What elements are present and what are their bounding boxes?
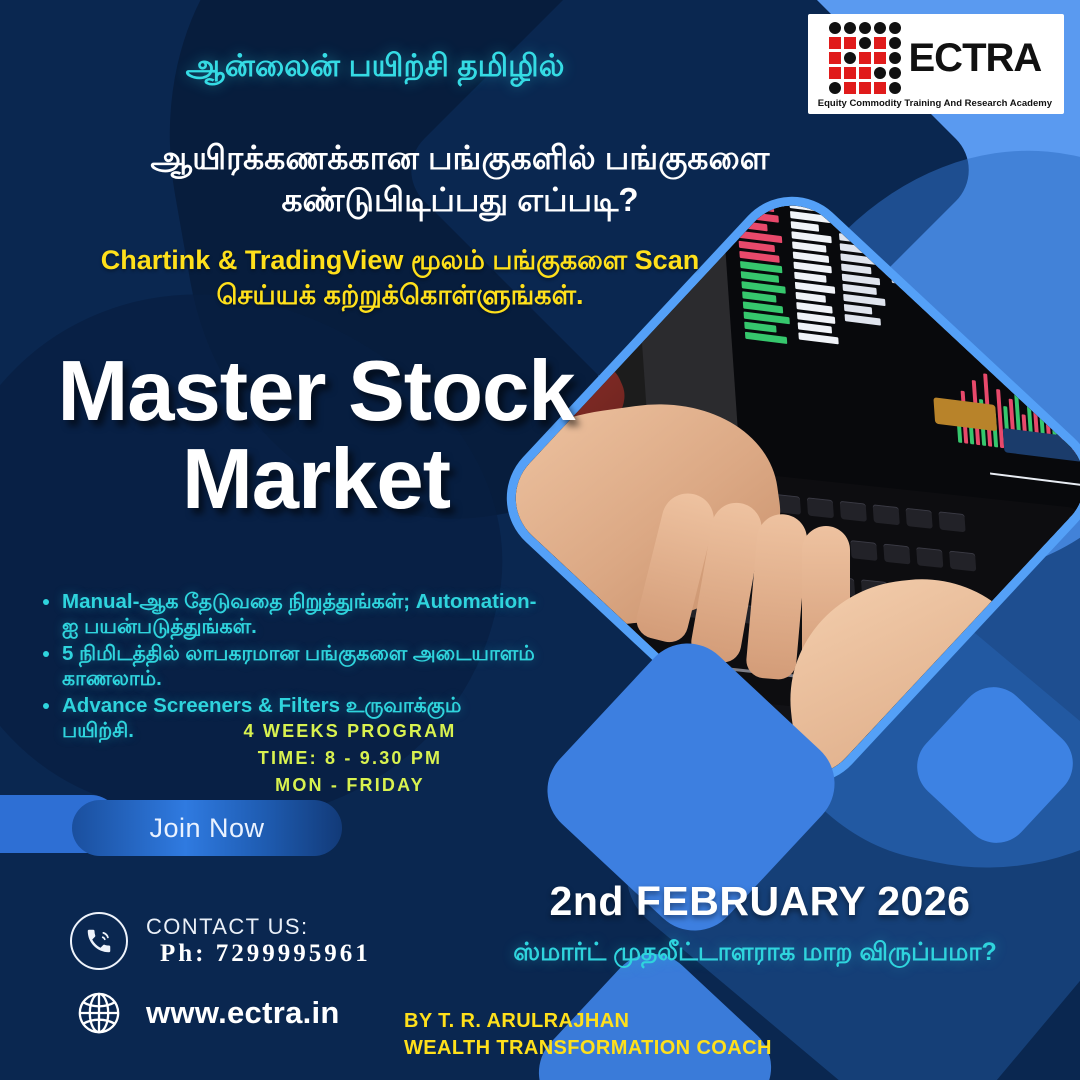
presenter-title: WEALTH TRANSFORMATION COACH bbox=[404, 1035, 772, 1062]
list-item: Manual-ஆக தேடுவதை நிறுத்துங்கள்; Automat… bbox=[62, 590, 538, 639]
page-headline: ஆயிரக்கணக்கான பங்குகளில் பங்குகளை கண்டுப… bbox=[60, 137, 860, 221]
leverage-bar bbox=[1003, 428, 1080, 471]
presenter-name: BY T. R. ARULRAJHAN bbox=[404, 1008, 772, 1035]
subheadline: Chartink & TradingView மூலம் பங்குகளை Sc… bbox=[40, 243, 760, 313]
contact-website-row: www.ectra.in bbox=[70, 984, 371, 1042]
subheadline-line-2: செய்யக் கற்றுக்கொள்ளுங்கள். bbox=[40, 278, 760, 313]
title-line-2: Market bbox=[26, 436, 606, 524]
contact-website[interactable]: www.ectra.in bbox=[146, 995, 340, 1031]
program-duration: 4 WEEKS PROGRAM bbox=[140, 718, 560, 745]
contact-label: CONTACT US: bbox=[146, 914, 371, 940]
globe-icon bbox=[70, 984, 128, 1042]
phone-call-icon bbox=[70, 912, 128, 970]
event-question: ஸ்மார்ட் முதலீட்டாளராக மாற விருப்பமா? bbox=[440, 938, 1070, 970]
contact-phone[interactable]: Ph: 7299995961 bbox=[146, 940, 371, 968]
headline-line-2: கண்டுபிடிப்பது எப்படி? bbox=[60, 179, 860, 221]
logo-tagline: Equity Commodity Training And Research A… bbox=[818, 98, 1052, 109]
program-days: MON - FRIDAY bbox=[140, 772, 560, 799]
page-title: Master Stock Market bbox=[26, 348, 606, 523]
program-details: 4 WEEKS PROGRAM TIME: 8 - 9.30 PM MON - … bbox=[140, 718, 560, 799]
headline-line-1: ஆயிரக்கணக்கான பங்குகளில் பங்குகளை bbox=[60, 137, 860, 179]
list-item: 5 நிமிடத்தில் லாபகரமான பங்குகளை அடையாளம்… bbox=[62, 642, 538, 691]
poster-root: ECTRA Equity Commodity Training And Rese… bbox=[0, 0, 1080, 1080]
join-now-button[interactable]: Join Now bbox=[72, 800, 342, 856]
ectra-logo: ECTRA Equity Commodity Training And Rese… bbox=[808, 14, 1064, 114]
contact-block: CONTACT US: Ph: 7299995961 www.ectra.in bbox=[70, 912, 371, 1042]
logo-dot-grid bbox=[829, 22, 901, 94]
program-time: TIME: 8 - 9.30 PM bbox=[140, 745, 560, 772]
divider-line-1 bbox=[990, 473, 1080, 496]
logo-wordmark: ECTRA bbox=[909, 38, 1042, 78]
title-line-1: Master Stock bbox=[26, 348, 606, 436]
contact-text: CONTACT US: Ph: 7299995961 bbox=[146, 914, 371, 968]
presenter-byline: BY T. R. ARULRAJHAN WEALTH TRANSFORMATIO… bbox=[404, 1008, 772, 1062]
contact-phone-row: CONTACT US: Ph: 7299995961 bbox=[70, 912, 371, 970]
event-date: 2nd FEBRUARY 2026 bbox=[450, 878, 1070, 925]
logo-mark-row: ECTRA bbox=[829, 22, 1042, 94]
subheadline-line-1: Chartink & TradingView மூலம் பங்குகளை Sc… bbox=[40, 243, 760, 278]
online-training-tagline: ஆன்லைன் பயிற்சி தமிழில் bbox=[0, 48, 750, 88]
